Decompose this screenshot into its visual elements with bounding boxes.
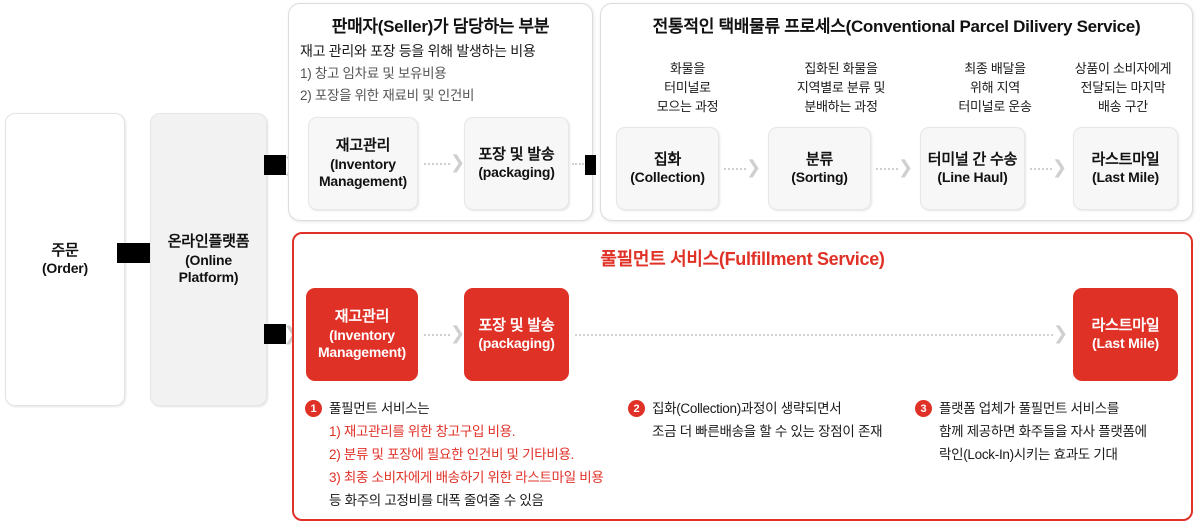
conventional-caption-linehaul: 최종 배달을 위해 지역 터미널로 운송: [920, 60, 1070, 117]
node-fulfillment-lastmile[interactable]: 라스트마일 (Last Mile): [1073, 288, 1178, 381]
chevron-right-icon-conventional-3: ❯: [1052, 159, 1067, 177]
node-order-label-kr: 주문: [51, 242, 78, 260]
note-badge-1: 1: [305, 400, 322, 417]
node-order[interactable]: 주문 (Order): [5, 113, 125, 406]
diagram-canvas: 주문 (Order) 온라인플랫폼 (Online Platform) ❯ ❯ …: [0, 0, 1197, 525]
node-collection-en: (Collection): [630, 169, 705, 186]
connector-order-platform: [117, 243, 150, 263]
node-linehaul-kr: 터미널 간 수송: [928, 151, 1018, 169]
node-platform-label-kr: 온라인플랫폼: [168, 233, 250, 251]
note-1-line-2: 1) 재고관리를 위한 창고구입 비용.: [329, 422, 515, 442]
note-badge-2: 2: [628, 400, 645, 417]
node-platform-label-en-1: (Online: [185, 252, 232, 269]
node-seller-packaging-kr: 포장 및 발송: [479, 146, 555, 164]
chevron-right-icon-seller-1: ❯: [450, 154, 465, 172]
section-seller-title: 판매자(Seller)가 담당하는 부분: [288, 12, 593, 37]
node-lastmile-en: (Last Mile): [1092, 169, 1159, 186]
node-seller-inventory-en-2: Management): [319, 173, 407, 190]
node-order-label-en: (Order): [42, 260, 88, 277]
section-fulfillment-title: 풀필먼트 서비스(Fulfillment Service): [292, 245, 1193, 271]
arrow-ff-inventory-to-packaging: [424, 334, 450, 336]
node-collection-kr: 집화: [654, 151, 681, 169]
node-conventional-collection[interactable]: 집화 (Collection): [616, 127, 719, 210]
node-ff-lastmile-kr: 라스트마일: [1091, 317, 1159, 335]
node-conventional-linehaul[interactable]: 터미널 간 수송 (Line Haul): [920, 127, 1025, 210]
note-1-line-1: 풀필먼트 서비스는: [329, 399, 429, 419]
node-ff-inventory-en-2: Management): [318, 344, 406, 361]
node-seller-inventory-management[interactable]: 재고관리 (Inventory Management): [308, 117, 418, 210]
arrow-seller-inventory-to-packaging: [424, 163, 450, 165]
node-ff-packaging-kr: 포장 및 발송: [479, 317, 555, 335]
node-online-platform[interactable]: 온라인플랫폼 (Online Platform): [150, 113, 267, 406]
connector-seller-conventional: [585, 155, 596, 175]
arrow-sorting-to-linehaul: [876, 168, 898, 170]
node-ff-inventory-en-1: (Inventory: [329, 327, 395, 344]
note-2-line-1: 집화(Collection)과정이 생략되면서: [652, 399, 841, 419]
node-seller-packaging[interactable]: 포장 및 발송 (packaging): [464, 117, 569, 210]
arrow-linehaul-to-lastmile: [1030, 168, 1052, 170]
note-1-line-4: 3) 최종 소비자에게 배송하기 위한 라스트마일 비용: [329, 468, 604, 488]
conventional-caption-collection: 화물을 터미널로 모으는 과정: [615, 60, 760, 117]
conventional-caption-lastmile: 상품이 소비자에게 전달되는 마지막 배송 구간: [1053, 60, 1193, 117]
note-3-line-3: 락인(Lock-In)시키는 효과도 기대: [939, 445, 1118, 465]
arrow-ff-packaging-to-lastmile: [575, 334, 1053, 336]
section-conventional-title: 전통적인 택배물류 프로세스(Conventional Parcel Diliv…: [600, 12, 1193, 37]
seller-subtitle: 재고 관리와 포장 등을 위해 발생하는 비용: [300, 41, 535, 62]
node-platform-label-en-2: Platform): [179, 269, 239, 286]
arrow-collection-to-sorting: [724, 168, 746, 170]
node-ff-packaging-en-1: (packaging): [478, 335, 554, 352]
node-conventional-sorting[interactable]: 분류 (Sorting): [768, 127, 871, 210]
note-badge-3: 3: [915, 400, 932, 417]
node-linehaul-en: (Line Haul): [937, 169, 1007, 186]
node-seller-inventory-en-1: (Inventory: [330, 156, 396, 173]
note-1-line-5: 등 화주의 고정비를 대폭 줄여줄 수 있음: [329, 491, 544, 511]
node-fulfillment-inventory-management[interactable]: 재고관리 (Inventory Management): [306, 288, 418, 381]
node-seller-packaging-en-1: (packaging): [478, 164, 554, 181]
note-3-line-2: 함께 제공하면 화주들을 자사 플랫폼에: [939, 422, 1147, 442]
seller-cost-item-1: 1) 창고 임차료 및 보유비용: [300, 64, 446, 84]
conventional-caption-sorting: 집화된 화물을 지역별로 분류 및 분배하는 과정: [765, 60, 917, 117]
note-1-line-3: 2) 분류 및 포장에 필요한 인건비 및 기타비용.: [329, 445, 574, 465]
note-3-line-1: 플랫폼 업체가 풀필먼트 서비스를: [939, 399, 1119, 419]
chevron-right-icon-conventional-2: ❯: [898, 159, 913, 177]
arrow-seller-to-conventional-dots: [572, 163, 584, 165]
seller-cost-item-2: 2) 포장을 위한 재료비 및 인건비: [300, 86, 474, 106]
node-sorting-en: (Sorting): [791, 169, 848, 186]
node-ff-inventory-kr: 재고관리: [335, 308, 389, 326]
node-fulfillment-packaging[interactable]: 포장 및 발송 (packaging): [464, 288, 569, 381]
note-2-line-2: 조금 더 빠른배송을 할 수 있는 장점이 존재: [652, 422, 882, 442]
node-sorting-kr: 분류: [806, 151, 833, 169]
node-conventional-lastmile[interactable]: 라스트마일 (Last Mile): [1073, 127, 1178, 210]
node-seller-inventory-kr: 재고관리: [336, 137, 390, 155]
node-ff-lastmile-en-1: (Last Mile): [1092, 335, 1159, 352]
node-lastmile-kr: 라스트마일: [1091, 151, 1159, 169]
chevron-right-icon-fulfillment-1: ❯: [450, 325, 465, 343]
chevron-right-icon-fulfillment-2: ❯: [1053, 325, 1068, 343]
chevron-right-icon-conventional-1: ❯: [746, 159, 761, 177]
